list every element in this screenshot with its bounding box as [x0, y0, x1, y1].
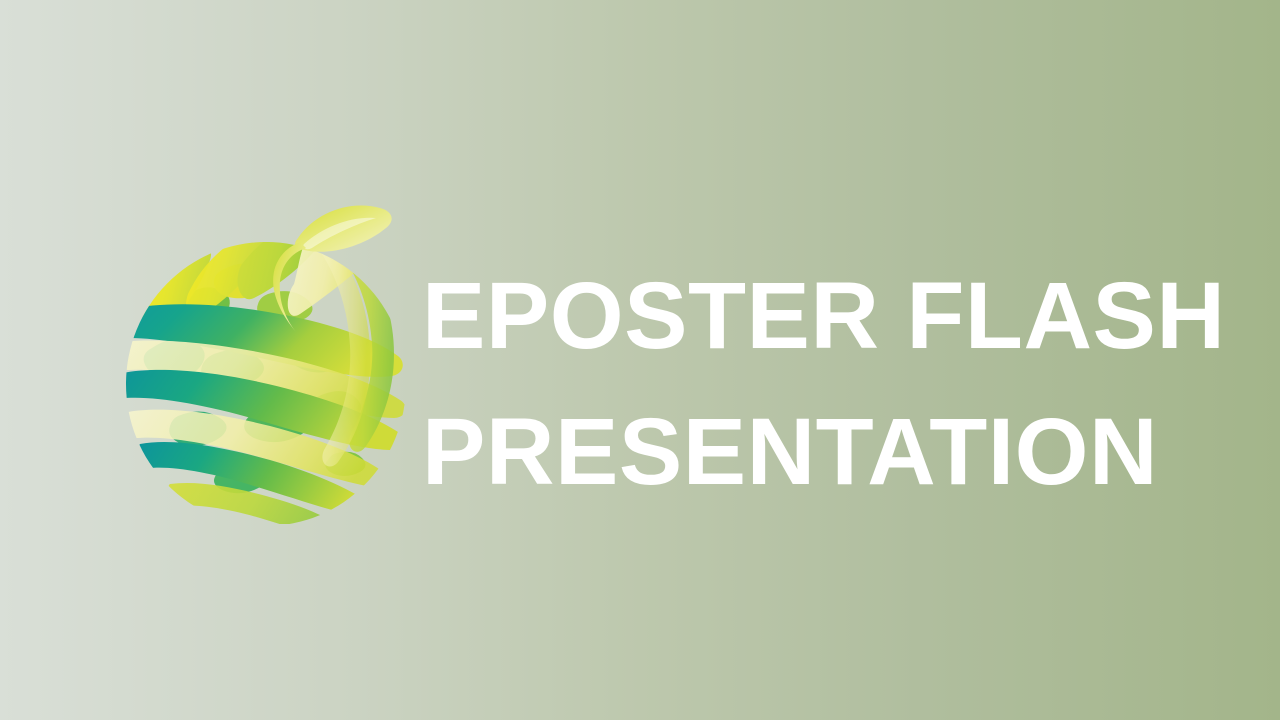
title-slide: EPOSTER FLASH PRESENTATION	[0, 0, 1280, 720]
title-line-2: PRESENTATION	[422, 384, 1222, 520]
page-title: EPOSTER FLASH PRESENTATION	[422, 248, 1222, 520]
title-line-1: EPOSTER FLASH	[422, 248, 1222, 384]
logo	[118, 198, 414, 524]
